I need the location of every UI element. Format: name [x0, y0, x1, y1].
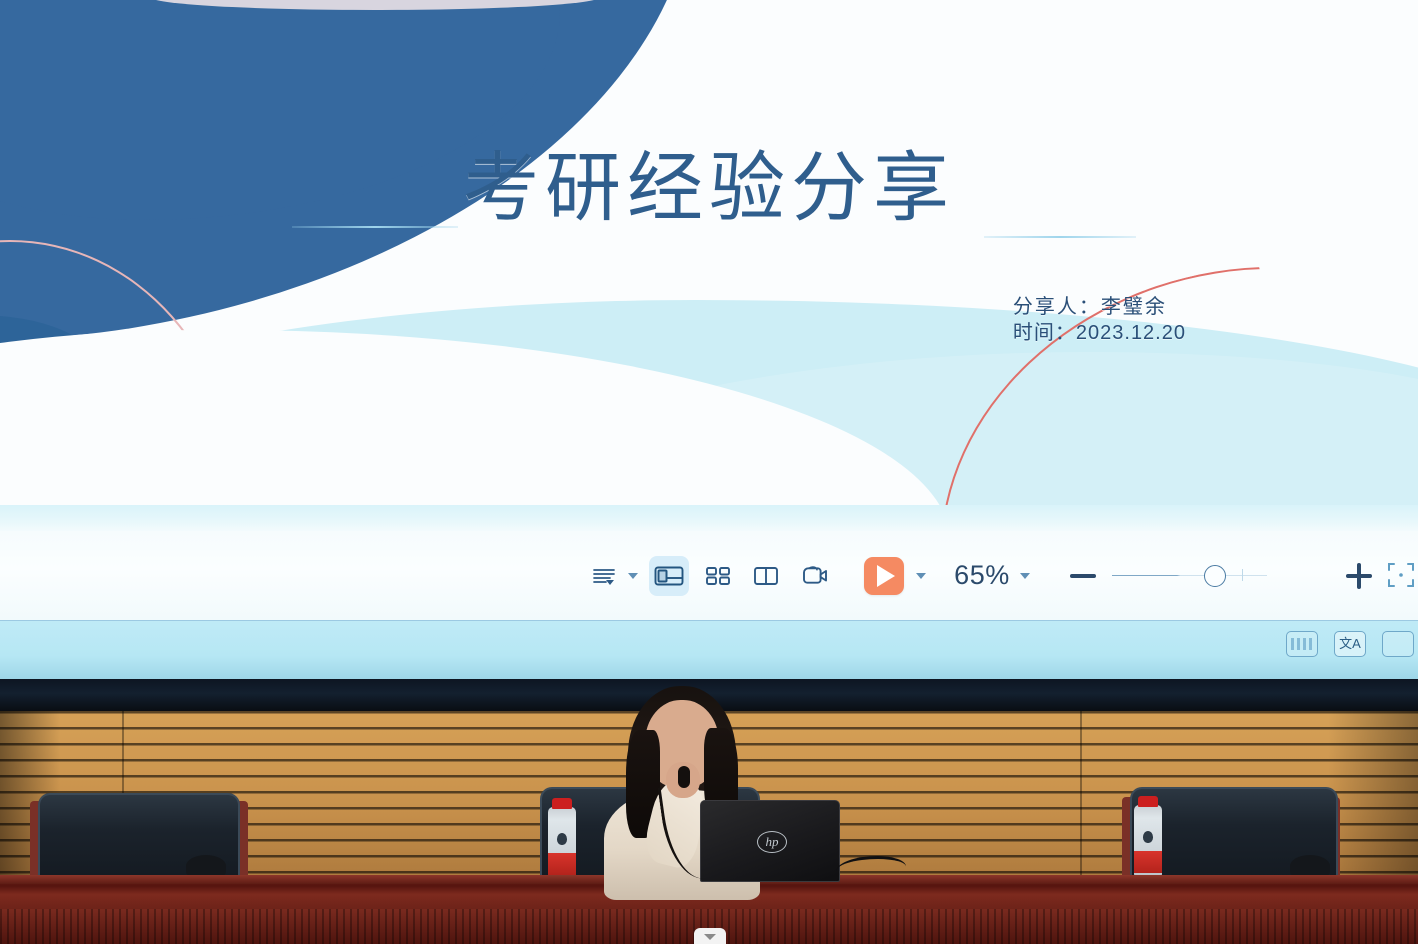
screen-bezel-upper — [0, 505, 1418, 531]
chevron-down-icon — [704, 934, 716, 940]
play-icon — [877, 565, 895, 587]
translate-icon[interactable]: 文A — [1334, 631, 1366, 657]
screen-bezel-lower — [0, 621, 1418, 679]
panel-icon[interactable] — [1382, 631, 1414, 657]
bottle-logo — [557, 833, 567, 845]
wood-wall-seam — [1080, 711, 1082, 893]
zoom-level-value[interactable]: 65% — [954, 560, 1010, 591]
zoom-out-button[interactable] — [1070, 559, 1096, 593]
hp-laptop: hp — [700, 800, 840, 882]
water-bottle-right — [1134, 805, 1162, 877]
minus-icon — [1070, 574, 1096, 578]
keyboard-icon[interactable] — [1286, 631, 1318, 657]
play-options-chevron-down-icon[interactable] — [916, 573, 926, 579]
zoom-slider-tick — [1242, 569, 1243, 581]
presenter-screen-icon[interactable] — [795, 556, 835, 596]
bottle-cap — [552, 798, 572, 809]
scroll-down-tab[interactable] — [694, 928, 726, 944]
slide-meta-block: 分享人：李璧余 时间：2023.12.20 — [1013, 294, 1186, 347]
microphone-base-right — [1290, 855, 1330, 877]
zoom-slider[interactable] — [1112, 559, 1268, 593]
title-rule-right — [984, 236, 1136, 238]
zoom-slider-track — [1112, 575, 1268, 577]
layout-grid-icon[interactable] — [698, 556, 738, 596]
presentation-toolbar: 65% — [0, 531, 1418, 621]
wall-shadow-right — [1328, 711, 1418, 893]
slide-presenter: 分享人：李璧余 — [1013, 294, 1186, 320]
zoom-slider-handle[interactable] — [1204, 565, 1226, 587]
layout-book-icon[interactable] — [746, 556, 786, 596]
bottle-label — [1134, 851, 1162, 873]
outline-view-chevron-down-icon[interactable] — [628, 573, 638, 579]
zoom-in-button[interactable] — [1341, 558, 1364, 594]
bottle-label — [548, 853, 576, 875]
water-bottle-left — [548, 807, 576, 879]
microphone-base-left — [186, 855, 226, 877]
fit-to-screen-icon[interactable] — [1384, 559, 1418, 593]
zoom-level-chevron-down-icon[interactable] — [1020, 573, 1030, 579]
slide-title: 考研经验分享 — [0, 126, 1418, 236]
play-button[interactable] — [864, 557, 904, 595]
hp-logo: hp — [757, 831, 787, 853]
laptop-cable — [836, 856, 906, 882]
presentation-window: 考研经验分享 分享人：李璧余 时间：2023.12.20 — [0, 0, 1418, 944]
slide-canvas[interactable]: 考研经验分享 分享人：李璧余 时间：2023.12.20 — [0, 0, 1418, 512]
ime-overlay-toolbar: 文A — [1286, 631, 1414, 657]
bottle-cap — [1138, 796, 1158, 807]
outline-list-icon[interactable] — [584, 556, 624, 596]
microphone — [678, 766, 690, 788]
bottle-logo — [1143, 831, 1153, 843]
layout-sidebar-icon[interactable] — [649, 556, 689, 596]
slide-date: 时间：2023.12.20 — [1013, 320, 1186, 346]
